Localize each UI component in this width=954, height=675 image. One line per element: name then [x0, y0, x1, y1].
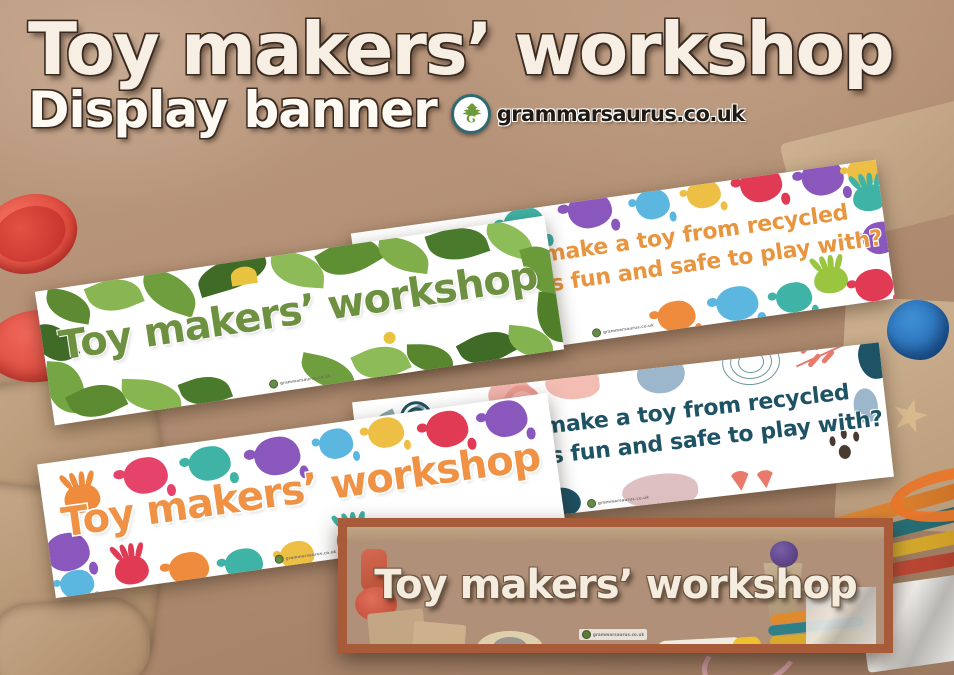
watermark: grammarsaurus.co.uk — [579, 629, 647, 640]
leaf-decor — [121, 379, 182, 413]
boho-dot-cluster — [829, 436, 836, 447]
banner-photo-craft[interactable]: Toy makers’ workshop grammarsaurus.co.uk — [338, 518, 893, 653]
paint-splat-purple — [483, 398, 530, 439]
page-subtitle: Display banner — [28, 82, 437, 138]
watermark-logo-icon — [268, 379, 278, 389]
photo-tape-roll-hole — [493, 637, 527, 653]
photo-glue-cap — [732, 636, 761, 653]
header: Toy makers’ workshop Display banner G gr… — [28, 10, 893, 138]
dinosaur-head-icon: G — [451, 94, 491, 134]
brand-logo-text: grammarsaurus.co.uk — [497, 102, 745, 126]
watermark-logo-icon — [582, 630, 591, 639]
paint-splat-blue — [317, 426, 355, 460]
photo-cardboard — [412, 621, 467, 653]
banner-photo-craft-text: Toy makers’ workshop — [347, 565, 884, 606]
handprint-red — [113, 554, 151, 586]
paint-splat-blue — [634, 187, 672, 221]
svg-text:G: G — [466, 113, 475, 126]
page-title: Toy makers’ workshop — [28, 10, 893, 88]
handprint-green — [812, 265, 849, 295]
screenshot-root: Toy makers’ workshop grammarsaurus.co.uk — [0, 0, 954, 675]
yellow-accent-flower — [383, 331, 397, 345]
watermark-logo-icon — [591, 328, 601, 338]
watermark-logo-icon — [274, 554, 284, 564]
paint-splat-teal — [774, 280, 814, 315]
paint-splat-yellow — [366, 415, 406, 450]
paint-splat-red — [853, 267, 895, 304]
watermark-logo-icon — [587, 498, 597, 508]
paint-splat-blue — [714, 284, 760, 324]
boho-triangle-coral — [728, 470, 752, 492]
brand-logo[interactable]: G grammarsaurus.co.uk — [451, 94, 745, 134]
boho-triangle-coral — [754, 469, 776, 489]
boho-dot-cluster — [838, 444, 852, 459]
